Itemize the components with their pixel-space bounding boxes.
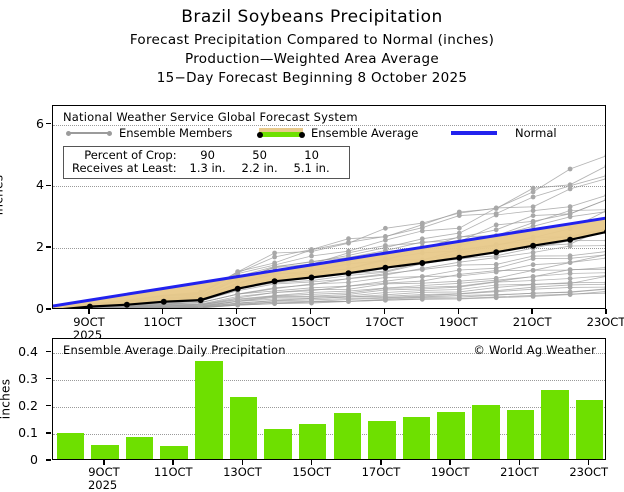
top-chart-ytick-label-0: 0 xyxy=(10,301,44,316)
bar-23oct xyxy=(576,400,604,460)
bottom-chart-ytick-mark-4 xyxy=(46,351,51,352)
cumulative-precipitation-chart: National Weather Service Global Forecast… xyxy=(52,105,606,309)
page-subtitle-2: Production—Weighted Area Average xyxy=(0,51,624,67)
amount-value-2: 5.1 in. xyxy=(289,162,341,175)
legend-label-ensemble-average: Ensemble Average xyxy=(311,126,418,140)
top-chart-ytick-label-2: 4 xyxy=(10,177,44,192)
bar-12oct xyxy=(195,361,223,459)
top-chart-xtick-label-1: 11OCT xyxy=(133,315,193,329)
bottom-chart-ytick-mark-2 xyxy=(46,405,51,406)
bot-gridline-y-3 xyxy=(53,380,605,381)
bar-16oct xyxy=(334,413,362,459)
legend-label-ensemble-members: Ensemble Members xyxy=(119,126,232,140)
page-subtitle-3: 15−Day Forecast Beginning 8 October 2025 xyxy=(0,70,624,86)
percent-of-crop-box: Percent of Crop: 90 50 10 Receives at Le… xyxy=(63,146,350,179)
bottom-chart-xtick-label-2: 13OCT xyxy=(212,465,272,479)
top-chart-xtick-label-6: 21OCT xyxy=(502,315,562,329)
amount-value-0: 1.3 in. xyxy=(185,162,237,175)
top-chart-xtick-label-4: 17OCT xyxy=(354,315,414,329)
top-chart-ytick-label-1: 2 xyxy=(10,239,44,254)
bar-10oct xyxy=(126,437,154,459)
top-chart-year-label: 2025 xyxy=(73,328,102,342)
normal-line xyxy=(53,218,605,306)
top-chart-xtick-mark-2 xyxy=(236,309,237,314)
top-chart-xtick-label-2: 13OCT xyxy=(207,315,267,329)
top-chart-xtick-mark-6 xyxy=(531,309,532,314)
bottom-chart-year-label: 2025 xyxy=(88,478,117,492)
bottom-chart-ytick-mark-0 xyxy=(46,459,51,460)
bar-18oct xyxy=(403,417,431,459)
top-chart-ytick-mark-1 xyxy=(46,246,51,247)
bottom-chart-xtick-label-7: 23OCT xyxy=(559,465,619,479)
bottom-chart-ytick-mark-1 xyxy=(46,432,51,433)
bottom-chart-xtick-label-1: 11OCT xyxy=(143,465,203,479)
bar-11oct xyxy=(160,446,188,459)
precipitation-chart-page: Brazil Soybeans Precipitation Forecast P… xyxy=(0,0,624,491)
bar-13oct xyxy=(230,397,258,459)
bar-22oct xyxy=(541,390,569,459)
bar-9oct xyxy=(91,445,119,459)
legend-source-label: National Weather Service Global Forecast… xyxy=(63,110,358,124)
bottom-chart-ytick-label-1: 0.1 xyxy=(4,425,38,440)
bottom-chart-ytick-label-4: 0.4 xyxy=(4,344,38,359)
bar-19oct xyxy=(437,412,465,459)
legend-label-normal: Normal xyxy=(515,126,557,140)
page-subtitle-1: Forecast Precipitation Compared to Norma… xyxy=(0,32,624,48)
top-chart-xtick-mark-0 xyxy=(88,309,89,314)
amount-value-1: 2.2 in. xyxy=(237,162,289,175)
top-chart-xtick-label-3: 15OCT xyxy=(281,315,341,329)
bot-gridline-y-2 xyxy=(53,407,605,408)
copyright-credit: © World Ag Weather xyxy=(473,343,596,357)
top-chart-xtick-mark-7 xyxy=(605,309,606,314)
bottom-chart-xtick-label-4: 17OCT xyxy=(351,465,411,479)
top-chart-xtick-label-7: 23OCT xyxy=(576,315,624,329)
bottom-chart-ytick-label-2: 0.2 xyxy=(4,398,38,413)
top-chart-ytick-mark-0 xyxy=(46,308,51,309)
bar-17oct xyxy=(368,421,396,459)
page-title: Brazil Soybeans Precipitation xyxy=(0,7,624,27)
daily-precipitation-chart: Ensemble Average Daily Precipitation © W… xyxy=(52,338,606,460)
title-block: Brazil Soybeans Precipitation Forecast P… xyxy=(0,0,624,86)
bottom-chart-xtick-label-5: 19OCT xyxy=(420,465,480,479)
top-chart-xtick-mark-3 xyxy=(310,309,311,314)
ensemble-members-swatch-icon xyxy=(67,132,111,134)
bar-8oct xyxy=(57,433,85,460)
top-chart-y-axis-label: inches xyxy=(0,175,5,216)
top-chart-xtick-mark-1 xyxy=(162,309,163,314)
bar-15oct xyxy=(299,424,327,459)
bottom-chart-ytick-label-3: 0.3 xyxy=(4,371,38,386)
top-chart-xtick-mark-4 xyxy=(384,309,385,314)
bottom-chart-xtick-label-3: 15OCT xyxy=(282,465,342,479)
bottom-chart-xtick-label-0: 9OCT xyxy=(74,465,134,479)
bar-20oct xyxy=(472,405,500,459)
top-chart-xtick-label-0: 9OCT xyxy=(59,315,119,329)
ensemble-average-swatch-icon xyxy=(259,128,303,137)
top-chart-xtick-mark-5 xyxy=(458,309,459,314)
normal-swatch-icon xyxy=(451,131,497,135)
bottom-chart-ytick-mark-3 xyxy=(46,378,51,379)
bottom-chart-xtick-label-6: 21OCT xyxy=(489,465,549,479)
bottom-chart-caption: Ensemble Average Daily Precipitation xyxy=(63,343,286,357)
top-chart-ytick-label-3: 6 xyxy=(10,116,44,131)
bottom-chart-ytick-label-0: 0 xyxy=(4,452,38,467)
top-chart-ytick-mark-3 xyxy=(46,123,51,124)
top-chart-xtick-label-5: 19OCT xyxy=(428,315,488,329)
top-chart-ytick-mark-2 xyxy=(46,185,51,186)
bar-14oct xyxy=(264,429,292,460)
chart-legend: Ensemble Members Ensemble Average Normal xyxy=(63,126,597,140)
bar-21oct xyxy=(507,410,535,460)
receives-at-least-label: Receives at Least: xyxy=(72,162,185,175)
